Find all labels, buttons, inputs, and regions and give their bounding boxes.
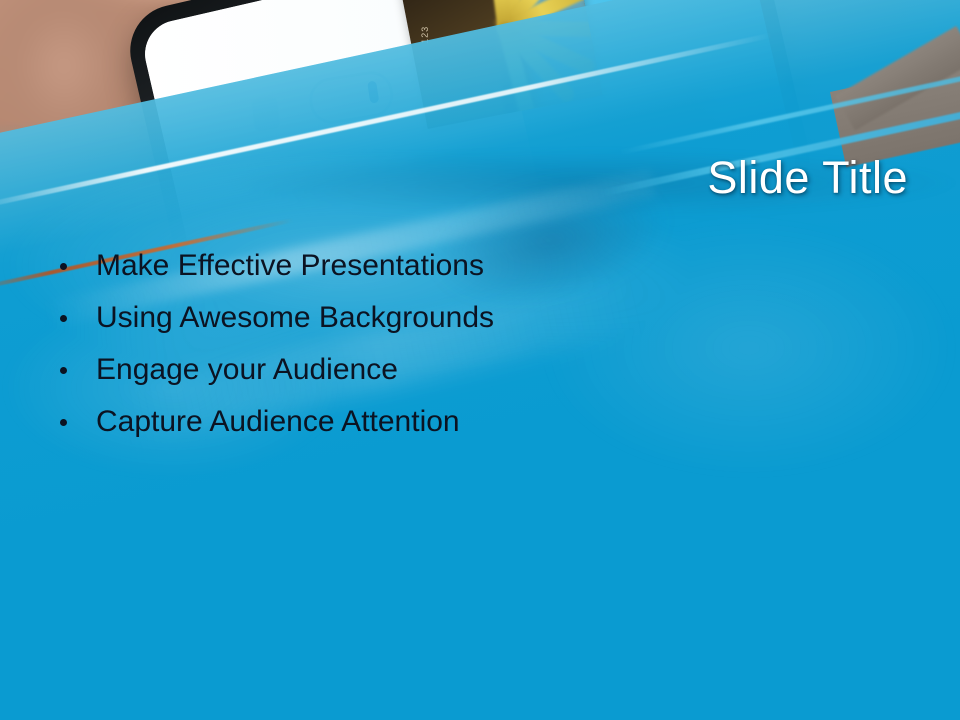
bullet-text: Make Effective Presentations bbox=[96, 249, 484, 282]
bullet-text: Engage your Audience bbox=[96, 353, 398, 386]
list-item: Using Awesome Backgrounds bbox=[52, 292, 692, 344]
list-item: Engage your Audience bbox=[52, 344, 692, 396]
list-item: Capture Audience Attention bbox=[52, 396, 692, 448]
slide-canvas: 123 BANK nou Slide Title Make Effective … bbox=[0, 0, 960, 720]
bullet-text: Capture Audience Attention bbox=[96, 405, 460, 438]
bullet-text: Using Awesome Backgrounds bbox=[96, 301, 494, 334]
list-item: Make Effective Presentations bbox=[52, 240, 692, 292]
page-title: Slide Title bbox=[707, 152, 908, 204]
bullet-list: Make Effective Presentations Using Aweso… bbox=[52, 240, 692, 448]
